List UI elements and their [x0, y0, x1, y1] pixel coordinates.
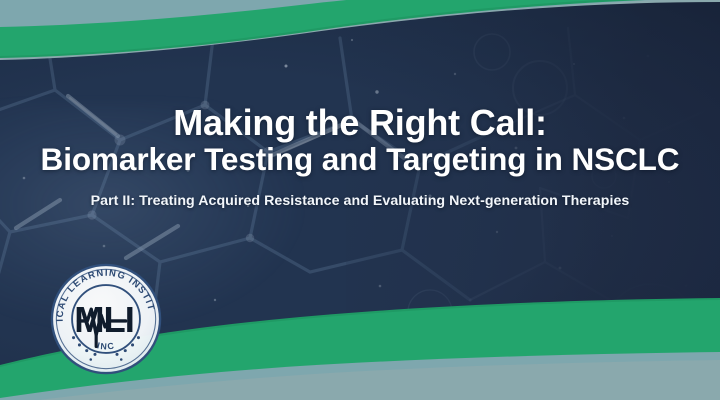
page-title-line-1: Making the Right Call: — [0, 104, 720, 142]
svg-text:INC: INC — [96, 340, 116, 351]
page-subtitle: Part II: Treating Acquired Resistance an… — [0, 193, 720, 210]
title-slide: Making the Right Call: Biomarker Testing… — [0, 0, 720, 400]
logo-monogram: MLI — [74, 299, 134, 347]
logo-bottom-text: INC — [96, 340, 116, 351]
title-block: Making the Right Call: Biomarker Testing… — [0, 104, 720, 210]
mli-logo: MEDICAL LEARNING INSTITUTE INC MLI — [47, 260, 165, 378]
page-title-line-2: Biomarker Testing and Targeting in NSCLC — [0, 142, 720, 177]
